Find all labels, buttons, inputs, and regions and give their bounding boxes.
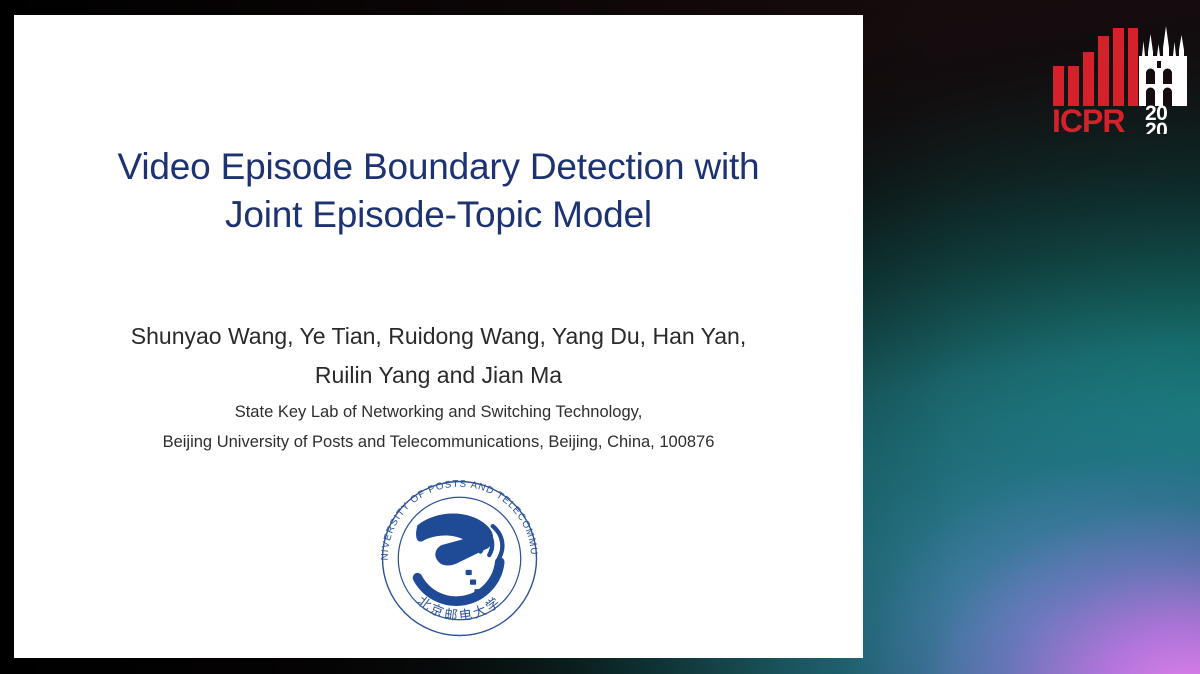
bupt-logo-svg: BEIJING UNIVERSITY OF POSTS AND TELECOMM… — [372, 471, 547, 646]
icpr-bar-6 — [1128, 28, 1138, 106]
duomo-window-right — [1163, 69, 1172, 85]
affiliation-line-1: State Key Lab of Networking and Switchin… — [14, 397, 863, 427]
icpr-wordmark: ICPR — [1052, 103, 1125, 134]
icpr-logo-svg: ICPR 20 20 — [1051, 22, 1193, 134]
icpr-bar-chart — [1053, 28, 1138, 106]
author-list: Shunyao Wang, Ye Tian, Ruidong Wang, Yan… — [14, 317, 863, 395]
slide-title-line-2: Joint Episode-Topic Model — [14, 191, 863, 239]
affiliation-block: State Key Lab of Networking and Switchin… — [14, 397, 863, 457]
bupt-logo: BEIJING UNIVERSITY OF POSTS AND TELECOMM… — [372, 471, 547, 646]
presentation-slide: Video Episode Boundary Detection with Jo… — [14, 15, 863, 658]
duomo-window-center — [1157, 61, 1161, 68]
icpr-bar-5 — [1113, 28, 1124, 106]
bupt-dove-emblem — [416, 513, 502, 601]
icpr-bar-3 — [1083, 52, 1094, 106]
author-line-1: Shunyao Wang, Ye Tian, Ruidong Wang, Yan… — [14, 317, 863, 356]
icpr-bar-2 — [1068, 66, 1079, 106]
author-line-2: Ruilin Yang and Jian Ma — [14, 356, 863, 395]
bupt-dot-trail — [466, 570, 481, 595]
icpr-2020-logo: ICPR 20 20 — [1051, 22, 1193, 134]
slide-title: Video Episode Boundary Detection with Jo… — [14, 143, 863, 239]
icpr-year-bottom: 20 — [1145, 119, 1167, 134]
affiliation-line-2: Beijing University of Posts and Telecomm… — [14, 427, 863, 457]
bupt-lower-arc — [418, 562, 500, 601]
icpr-bar-4 — [1098, 36, 1109, 106]
slide-title-line-1: Video Episode Boundary Detection with — [14, 143, 863, 191]
screenshot-stage: ICPR 20 20 Video Episode Boundary Detect… — [0, 0, 1200, 674]
duomo-window-left — [1146, 69, 1155, 85]
icpr-bar-1 — [1053, 66, 1064, 106]
